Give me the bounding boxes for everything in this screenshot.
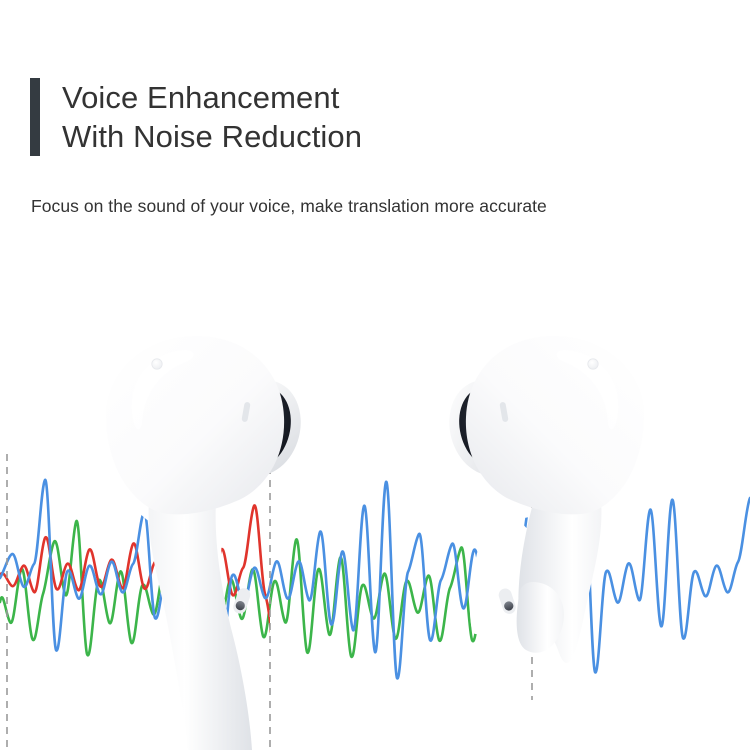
divider-lines: [7, 454, 532, 750]
left-earbud-led-icon: [152, 359, 162, 369]
page-title: Voice Enhancement With Noise Reduction: [62, 78, 362, 156]
promo-page: Voice Enhancement With Noise Reduction F…: [0, 0, 750, 750]
title-block: Voice Enhancement With Noise Reduction: [30, 78, 362, 156]
earbuds-waveform-illustration: [0, 250, 750, 750]
right-earbud: [439, 336, 644, 663]
left-earbud-stem: [149, 480, 252, 750]
subtitle: Focus on the sound of your voice, make t…: [31, 194, 547, 218]
right-earbud-head: [466, 336, 644, 514]
illustration-stage: [0, 250, 750, 750]
title-line-1: Voice Enhancement: [62, 78, 362, 117]
waveform-group: [0, 474, 750, 679]
right-earbud-led-icon: [588, 359, 598, 369]
header: Voice Enhancement With Noise Reduction F…: [0, 0, 750, 250]
left-earbud-head: [106, 336, 284, 514]
waveform-voice-blue: [0, 474, 750, 679]
title-line-2: With Noise Reduction: [62, 117, 362, 156]
accent-bar: [30, 78, 40, 156]
